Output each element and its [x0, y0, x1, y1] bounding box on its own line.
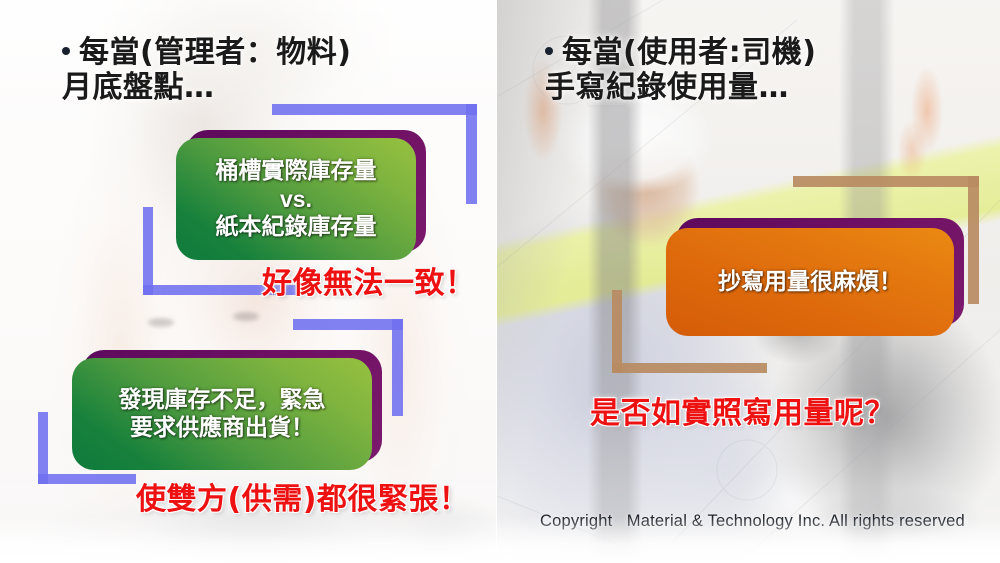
callout2-line1: 發現庫存不足，緊急 [119, 386, 326, 414]
bracket-segment-horizontal [293, 319, 403, 330]
emphasis-text-honest-record-question: 是否如實照寫用量呢？ [590, 388, 895, 432]
bracket-segment-horizontal [38, 474, 136, 484]
bracket-segment-horizontal [793, 176, 979, 187]
right-heading-line1: 每當(使用者:司機) [562, 35, 816, 70]
left-heading: 每當(管理者：物料) 月底盤點… [62, 36, 351, 106]
left-heading-line1: 每當(管理者：物料) [79, 35, 351, 70]
bracket-segment-vertical [143, 207, 153, 295]
bracket-segment-vertical [466, 104, 477, 204]
bracket-segment-vertical [968, 176, 979, 304]
emphasis-text-mismatch: 好像無法一致！ [262, 258, 476, 302]
bracket-segment-vertical [612, 290, 622, 373]
callout3-line1: 抄寫用量很麻煩！ [718, 268, 902, 296]
bottom-white-fade [0, 517, 1000, 563]
right-heading-line2: 手寫紀錄使用量… [545, 71, 816, 106]
right-heading: 每當(使用者:司機) 手寫紀錄使用量… [545, 36, 816, 106]
left-heading-line2: 月底盤點… [62, 71, 351, 106]
bullet-dot-icon [62, 47, 70, 55]
callout-box-inventory-comparison: 桶槽實際庫存量 vs. 紙本紀錄庫存量 [176, 138, 416, 260]
bullet-dot-icon [545, 47, 553, 55]
callout-box-shortage-urgent-order: 發現庫存不足，緊急 要求供應商出貨！ [72, 358, 372, 470]
callout2-line2: 要求供應商出貨！ [119, 414, 326, 442]
bracket-segment-horizontal [272, 104, 477, 115]
photo-detail-eye-left [148, 318, 174, 327]
callout1-line3: 紙本紀錄庫存量 [216, 213, 377, 241]
photo-detail-eye-right [233, 312, 259, 321]
callout1-line1: 桶槽實際庫存量 [216, 157, 377, 185]
emphasis-text-both-sides-tense: 使雙方(供需)都很緊張！ [136, 474, 469, 518]
bracket-segment-vertical [392, 319, 403, 416]
callout-box-manual-copy-hassle: 抄寫用量很麻煩！ [666, 228, 954, 336]
slide-root: 桶槽實際庫存量 vs. 紙本紀錄庫存量 發現庫存不足，緊急 要求供應商出貨！ 抄… [0, 0, 1000, 563]
bracket-segment-horizontal [612, 363, 767, 373]
callout1-line2: vs. [216, 185, 377, 213]
